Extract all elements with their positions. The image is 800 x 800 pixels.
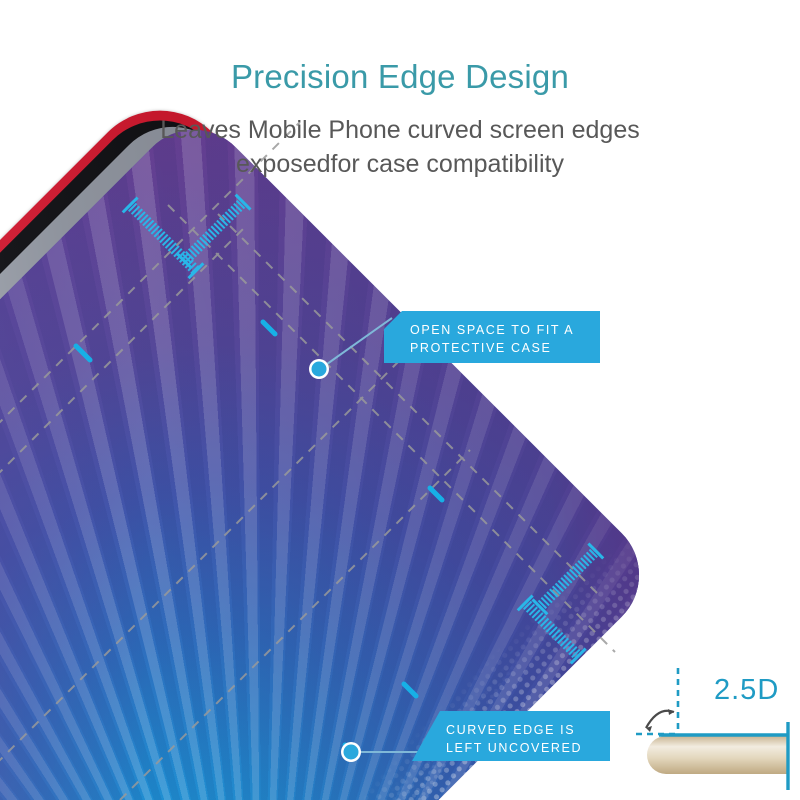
- callout-open-space-line1: OPEN SPACE TO FIT A: [410, 321, 586, 339]
- callout-anchor-dot-icon: [312, 362, 327, 377]
- edge-profile-label: 2.5D: [714, 674, 779, 707]
- gap-tick-arrow-icon: [76, 346, 90, 360]
- page-title: Precision Edge Design: [0, 58, 800, 96]
- callout-open-space-banner[interactable]: OPEN SPACE TO FIT A PROTECTIVE CASE: [384, 311, 600, 363]
- page-subtitle-line2: exposedfor case compatibility: [0, 147, 800, 181]
- page-subtitle-line1: Leaves Mobile Phone curved screen edges: [0, 113, 800, 147]
- page-subtitle: Leaves Mobile Phone curved screen edges …: [0, 113, 800, 181]
- edge-gap-ticks: [76, 322, 442, 757]
- dimension-marker-right-lower: [517, 594, 587, 664]
- callout-curved-edge-line1: CURVED EDGE IS: [446, 721, 596, 739]
- edge-profile-svg: [636, 650, 800, 800]
- gap-tick-arrow-icon: [263, 322, 275, 334]
- callout-curved-edge-line2: LEFT UNCOVERED: [446, 739, 596, 757]
- gap-tick-arrow-icon: [404, 684, 416, 696]
- curve-radius-arrow-icon: [646, 709, 674, 732]
- callout-open-space-line2: PROTECTIVE CASE: [410, 339, 586, 357]
- guide-lines: [0, 122, 615, 800]
- gap-tick-arrow-icon: [430, 488, 442, 500]
- callout-anchor-dot-icon: [344, 745, 359, 760]
- edge-profile-diagram: 2.5D: [636, 650, 800, 800]
- callout-leader-open-space: [309, 318, 392, 379]
- callout-curved-edge-banner[interactable]: CURVED EDGE IS LEFT UNCOVERED: [412, 711, 610, 761]
- glass-edge-bar: [647, 736, 788, 774]
- product-feature-image: OPEN SPACE TO FIT A PROTECTIVE CASE CURV…: [0, 0, 800, 800]
